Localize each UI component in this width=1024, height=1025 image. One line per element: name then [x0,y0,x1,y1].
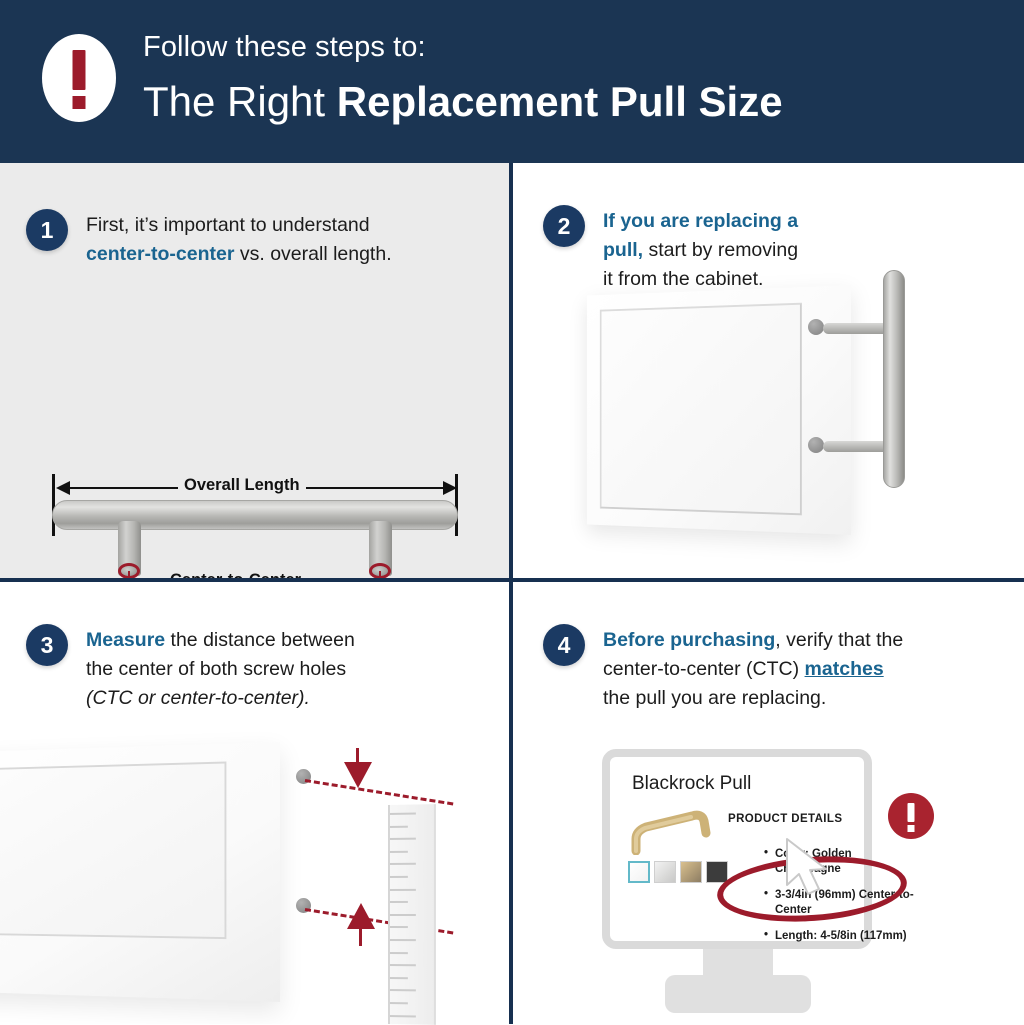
step-4-line1-rest: , verify that the [775,629,903,651]
measure-arrow-down-icon [344,762,372,788]
header-eyebrow: Follow these steps to: [143,31,426,64]
ruler-tick [390,977,408,979]
product-detail-length: Length: 4-5/8in (117mm) [764,929,914,944]
cabinet-door-measure-inset [0,761,226,939]
thumbnail-pull-scale[interactable] [654,861,676,883]
step-4-line3: the pull you are replacing. [603,687,826,709]
step-4-line2-pre: center-to-center (CTC) [603,658,805,680]
ruler-tick [390,813,416,815]
ruler-tick [390,964,416,966]
mouse-pointer-icon [783,837,837,899]
ruler-tick [390,952,408,954]
step-panel-1: 1 First, it’s important to understand ce… [0,163,509,578]
overall-arrow-left [56,481,70,495]
page-header: Follow these steps to: The Right Replace… [0,0,1024,163]
step-4-line1-bold: Before purchasing [603,629,775,651]
exclamation-bar [73,50,86,90]
ruler-tick [390,888,416,890]
screw-hole-top [808,319,824,335]
page-title: The Right Replacement Pull Size [143,78,783,126]
measure-arrow-up-icon [347,903,375,929]
step-3-line2: the center of both screw holes [86,658,346,680]
overall-arrow-right [443,481,457,495]
ruler-tick [390,901,408,903]
ruler-illustration [388,804,436,1025]
step-3-line1-bold: Measure [86,629,165,651]
title-bold: Replacement Pull Size [337,78,783,125]
step-2-line3: it from the cabinet. [603,268,763,290]
overall-length-label: Overall Length [178,476,306,495]
centerline-left [128,571,130,578]
step-panel-2: 2 If you are replacing a pull, start by … [513,163,1024,578]
step-number-badge-2: 2 [543,205,585,247]
measure-arrow-bottom-stem [359,928,362,946]
thumbnail-pull-render[interactable] [628,861,650,883]
infographic-page: Follow these steps to: The Right Replace… [0,0,1024,1024]
ctc-label: Center-to-Center [170,571,301,578]
ruler-tick [390,1015,416,1017]
bar-pull-body [52,500,458,530]
alert-exclamation-dot [908,825,915,832]
step-3-text: Measure the distance between the center … [86,626,476,713]
ruler-tick [390,863,416,865]
ruler-tick [390,989,416,991]
ruler-tick [390,939,416,941]
title-regular: The Right [143,78,337,125]
cabinet-door-measure-illustration [0,742,280,1002]
pull-post-bottom [823,441,891,452]
step-4-text: Before purchasing, verify that the cente… [603,626,1003,713]
ruler-tick [390,825,408,827]
screw-hole-bottom [808,437,824,453]
step-2-line1-bold: If you are replacing a [603,210,798,232]
thumbnail-pull-on-cabinet[interactable] [680,861,702,883]
ruler-tick [390,1002,408,1004]
pull-post-top [823,323,891,334]
step-1-line1: First, it’s important to understand [86,214,370,236]
ruler-tick [390,914,416,916]
step-1-bold: center-to-center [86,243,234,265]
ruler-tick [390,926,408,928]
step-number-badge-3: 3 [26,624,68,666]
step-3-line1-rest: the distance between [165,629,355,651]
product-image [630,809,716,855]
matches-link[interactable]: matches [805,658,884,680]
product-title: Blackrock Pull [632,773,751,795]
step-1-text: First, it’s important to understand cent… [86,211,466,269]
alert-exclamation-bar [908,803,915,822]
step-1-rest: vs. overall length. [234,243,391,265]
exclamation-circle-icon [888,793,934,839]
cabinet-door-panel-inset [600,303,802,516]
ruler-tick [390,838,416,840]
step-number-badge-1: 1 [26,209,68,251]
bar-pull-vertical [883,270,905,488]
exclamation-circle-icon [42,34,116,122]
step-2-line2-bold: pull, [603,239,643,261]
centerline-right [379,571,381,578]
step-panel-4: 4 Before purchasing, verify that the cen… [513,582,1024,1024]
step-number-badge-4: 4 [543,624,585,666]
step-2-text: If you are replacing a pull, start by re… [603,207,903,294]
ruler-tick [390,851,408,853]
step-2-line2-rest: start by removing [643,239,798,261]
ruler-tick [390,876,408,878]
product-details-heading: PRODUCT DETAILS [728,813,842,825]
exclamation-dot [73,96,86,109]
monitor-base [665,975,811,1013]
product-thumbnail-list[interactable] [628,861,728,883]
step-3-line3: (CTC or center-to-center). [86,687,310,709]
